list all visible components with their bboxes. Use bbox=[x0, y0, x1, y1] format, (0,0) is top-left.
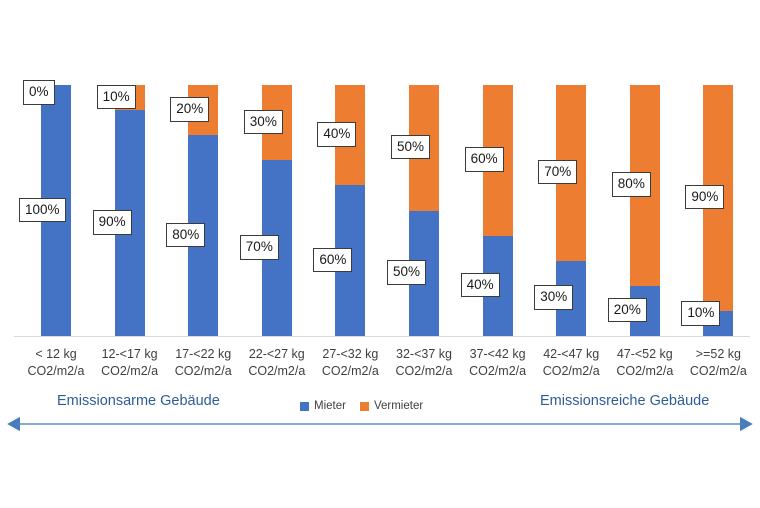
data-label-vermieter: 10% bbox=[97, 85, 136, 110]
bar-column[interactable] bbox=[409, 85, 439, 336]
legend-swatch-icon bbox=[300, 402, 309, 411]
data-label-vermieter: 60% bbox=[465, 147, 504, 172]
bar-column[interactable] bbox=[703, 85, 733, 336]
data-label-vermieter: 50% bbox=[391, 135, 430, 160]
bar-column[interactable] bbox=[188, 85, 218, 336]
data-label-vermieter: 30% bbox=[244, 110, 283, 135]
category-label-line2: CO2/m2/a bbox=[674, 363, 760, 380]
data-label-mieter: 20% bbox=[608, 298, 647, 323]
data-label-mieter: 80% bbox=[166, 223, 205, 248]
data-label-vermieter: 40% bbox=[317, 122, 356, 147]
data-label-mieter: 90% bbox=[93, 210, 132, 235]
data-label-mieter: 100% bbox=[19, 198, 66, 223]
chart-legend: MieterVermieter bbox=[300, 400, 423, 412]
data-label-vermieter: 20% bbox=[170, 97, 209, 122]
data-label-mieter: 10% bbox=[681, 301, 720, 326]
emission-scale-arrow bbox=[6, 413, 754, 435]
legend-swatch-icon bbox=[360, 402, 369, 411]
category-axis-label: >=52 kgCO2/m2/a bbox=[674, 346, 760, 381]
annotation-high-emission: Emissionsreiche Gebäude bbox=[540, 393, 709, 409]
bar-column[interactable] bbox=[483, 85, 513, 336]
legend-label: Vermieter bbox=[374, 400, 423, 412]
data-label-vermieter: 80% bbox=[612, 172, 651, 197]
legend-item[interactable]: Vermieter bbox=[360, 400, 423, 412]
data-label-mieter: 60% bbox=[313, 248, 352, 273]
data-label-vermieter: 90% bbox=[685, 185, 724, 210]
data-label-vermieter: 0% bbox=[23, 80, 55, 105]
category-label-line1: >=52 kg bbox=[674, 346, 760, 363]
category-axis-line bbox=[14, 336, 750, 337]
data-label-mieter: 40% bbox=[461, 273, 500, 298]
data-label-mieter: 70% bbox=[240, 235, 279, 260]
stacked-bar-chart: 0%100%10%90%20%80%30%70%40%60%50%50%60%4… bbox=[0, 0, 760, 508]
legend-label: Mieter bbox=[314, 400, 346, 412]
data-label-vermieter: 70% bbox=[538, 160, 577, 185]
plot-area: 0%100%10%90%20%80%30%70%40%60%50%50%60%4… bbox=[0, 0, 760, 340]
annotation-low-emission: Emissionsarme Gebäude bbox=[57, 393, 220, 409]
data-label-mieter: 50% bbox=[387, 260, 426, 285]
double-arrow-icon bbox=[6, 413, 754, 435]
data-label-mieter: 30% bbox=[534, 285, 573, 310]
legend-item[interactable]: Mieter bbox=[300, 400, 346, 412]
